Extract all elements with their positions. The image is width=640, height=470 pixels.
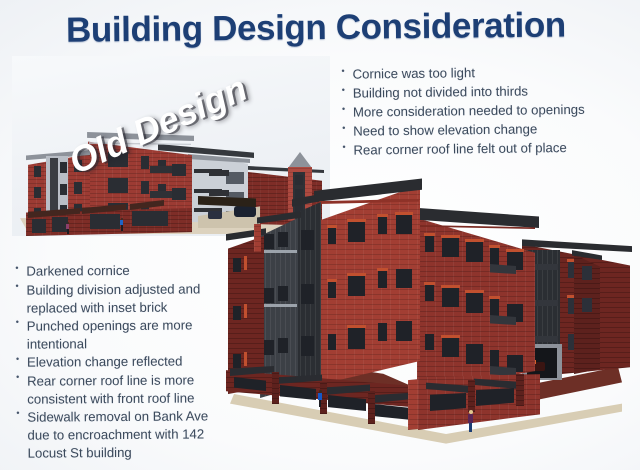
old-balcony-rail <box>150 166 174 173</box>
new-lintel <box>441 335 460 338</box>
new-window <box>233 258 241 272</box>
old-window <box>108 178 128 193</box>
new-lintel <box>465 239 484 242</box>
new-window <box>490 248 499 266</box>
new-pilaster <box>516 374 524 406</box>
new-lintel <box>327 279 337 282</box>
new-window <box>348 276 365 296</box>
new-lintel <box>347 219 366 222</box>
old-window <box>172 164 186 176</box>
new-window <box>301 336 314 356</box>
old-storefront-glass <box>90 214 120 229</box>
old-balcony-rail <box>150 191 174 198</box>
new-window <box>396 321 412 341</box>
new-pilaster <box>244 352 247 366</box>
new-panel-reveal <box>261 304 297 307</box>
pedestrian <box>318 390 323 407</box>
new-lintel <box>489 245 500 248</box>
old-window <box>34 166 41 177</box>
slide-canvas: Old Design Building Design Consideration… <box>0 0 640 470</box>
new-window <box>582 266 592 280</box>
new-window <box>278 232 288 247</box>
new-design-changes-list: Darkened cornice Building division adjus… <box>15 261 228 463</box>
list-item: More consideration needed to openings <box>342 100 632 122</box>
new-design-building-rendering <box>222 178 640 470</box>
list-item: Sidewalk removal on Bank Ave due to encr… <box>16 408 228 462</box>
new-window <box>264 340 274 355</box>
new-window <box>466 293 483 313</box>
new-window <box>278 338 288 353</box>
pedestrian <box>66 222 70 234</box>
new-panel-reveal <box>261 250 297 253</box>
new-window <box>396 269 412 288</box>
new-window <box>378 323 387 341</box>
new-pilaster <box>368 391 375 424</box>
list-item: Cornice was too light <box>341 62 631 84</box>
new-pilaster <box>244 256 247 270</box>
new-window <box>301 284 314 304</box>
new-lintel <box>347 325 366 328</box>
new-window <box>348 222 365 242</box>
new-lintel <box>424 233 435 236</box>
new-window <box>396 215 412 234</box>
pedestrian <box>468 410 474 432</box>
new-window <box>442 288 459 307</box>
new-window <box>233 354 241 368</box>
new-window <box>328 282 336 298</box>
new-pilaster <box>468 380 475 412</box>
new-window <box>278 286 288 301</box>
new-lintel <box>395 212 413 215</box>
new-window <box>466 242 483 262</box>
old-window <box>60 184 67 195</box>
new-window <box>378 217 387 234</box>
new-window <box>264 288 274 303</box>
new-window <box>328 228 336 244</box>
old-window <box>74 182 82 194</box>
new-window <box>264 234 274 249</box>
new-window <box>301 230 314 250</box>
new-window <box>442 338 459 357</box>
new-storefront-glass <box>430 393 466 411</box>
new-lintel <box>489 296 500 299</box>
list-item: Elevation change reflected <box>16 353 228 373</box>
pedestrian <box>120 218 124 231</box>
list-item: Darkened cornice <box>15 261 227 281</box>
new-window <box>490 350 499 367</box>
new-lintel <box>347 273 366 276</box>
list-item: Rear corner roof line felt out of place <box>342 139 632 161</box>
new-window <box>442 238 459 257</box>
new-lintel <box>377 268 388 271</box>
new-chimney <box>254 224 261 252</box>
list-item: Building not divided into thirds <box>342 81 632 103</box>
old-window <box>60 162 67 173</box>
new-pilaster <box>244 304 247 318</box>
old-design-critique-list: Cornice was too light Building not divid… <box>341 62 632 161</box>
old-storefront-glass <box>32 219 46 233</box>
new-window <box>425 334 434 350</box>
new-lintel <box>441 235 460 238</box>
new-window <box>490 299 499 317</box>
new-window <box>328 334 336 350</box>
new-lintel <box>465 290 484 293</box>
page-title: Building Design Consideration <box>66 5 586 50</box>
new-pilaster <box>272 372 279 404</box>
old-balcony-rail <box>209 170 229 176</box>
old-window <box>141 156 149 169</box>
list-item: Punched openings are more intentional <box>16 316 228 353</box>
list-item: Rear corner roof line is more consistent… <box>16 372 228 409</box>
list-item: Building division adjusted and replaced … <box>15 280 227 317</box>
car <box>208 211 222 219</box>
new-window <box>425 285 434 301</box>
new-lintel <box>377 214 388 217</box>
new-window <box>466 344 483 364</box>
new-lintel <box>424 282 435 285</box>
new-window <box>425 236 434 252</box>
list-item: Need to show elevation change <box>342 119 632 141</box>
old-window <box>172 188 186 200</box>
new-window <box>348 328 365 349</box>
new-lintel <box>506 249 524 252</box>
new-window <box>582 298 592 312</box>
new-window <box>233 306 241 320</box>
old-window <box>141 181 149 194</box>
old-window <box>34 187 41 198</box>
new-lintel <box>327 225 337 228</box>
old-storefront-glass <box>132 211 168 226</box>
new-window <box>378 271 387 288</box>
new-lintel <box>441 285 460 288</box>
